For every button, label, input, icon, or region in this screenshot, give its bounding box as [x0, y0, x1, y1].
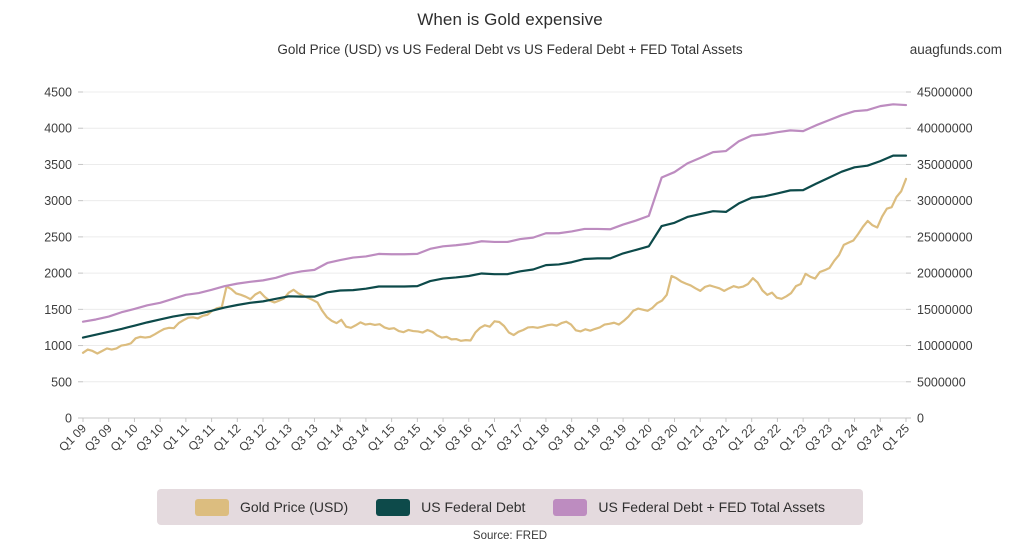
x-axis-tick-label: Q3 17: [493, 421, 526, 454]
x-axis-tick-label: Q1 09: [56, 421, 89, 454]
x-axis-tick-label: Q1 11: [160, 421, 193, 454]
x-axis-tick-label: Q1 19: [570, 421, 603, 454]
chart-container: When is Gold expensive Gold Price (USD) …: [0, 0, 1020, 557]
x-axis-tick-label: Q3 20: [648, 421, 681, 454]
x-axis-tick-label: Q3 21: [699, 421, 732, 454]
right-axis-tick-label: 15000000: [917, 303, 973, 317]
x-axis-tick-label: Q1 17: [468, 421, 501, 454]
x-axis-tick-label: Q3 13: [288, 421, 321, 454]
legend-label: Gold Price (USD): [240, 499, 348, 515]
left-axis-tick-label: 4500: [44, 86, 72, 100]
legend-swatch-icon: [195, 499, 229, 516]
right-axis-tick-label: 20000000: [917, 267, 973, 281]
x-axis-tick-label: Q1 24: [828, 421, 861, 454]
left-axis-tick-label: 3500: [44, 158, 72, 172]
right-axis-tick-label: 25000000: [917, 230, 973, 244]
legend-item[interactable]: US Federal Debt + FED Total Assets: [553, 499, 825, 516]
series-line: [83, 104, 906, 321]
x-axis-tick-label: Q3 15: [390, 421, 423, 454]
x-axis-tick-label: Q1 22: [725, 421, 758, 454]
left-axis-tick-label: 4000: [44, 122, 72, 136]
right-axis-tick-label: 35000000: [917, 158, 973, 172]
x-axis-tick-label: Q3 09: [82, 421, 115, 454]
right-axis-tick-label: 30000000: [917, 194, 973, 208]
series-line: [83, 156, 906, 338]
plot-area: 050010001500200025003000350040004500 050…: [0, 0, 1020, 490]
series-lines: [83, 104, 906, 353]
legend-item[interactable]: US Federal Debt: [376, 499, 525, 516]
x-axis-tick-label: Q1 23: [776, 421, 809, 454]
left-axis-tick-label: 3000: [44, 194, 72, 208]
left-axis-tick-label: 0: [65, 412, 72, 426]
x-axis-tick-label: Q1 15: [365, 421, 398, 454]
x-axis-tick-label: Q1 12: [210, 421, 243, 454]
x-axis-tick-label: Q3 10: [133, 421, 166, 454]
x-axis-tick-label: Q1 20: [622, 421, 655, 454]
x-axis-tick-label: Q3 11: [185, 421, 218, 454]
left-axis-tick-label: 2000: [44, 267, 72, 281]
legend-item[interactable]: Gold Price (USD): [195, 499, 348, 516]
x-axis-tick-label: Q3 14: [339, 421, 372, 454]
gridlines: [83, 92, 906, 418]
x-axis-tick-label: Q1 14: [313, 421, 346, 454]
x-axis-tick-label: Q1 16: [416, 421, 449, 454]
left-axis-tick-label: 500: [51, 375, 72, 389]
series-line: [83, 179, 906, 354]
right-axis-tick-label: 10000000: [917, 339, 973, 353]
left-axis-tick-label: 1000: [44, 339, 72, 353]
x-axis-tick-label: Q1 18: [519, 421, 552, 454]
source-note: Source: FRED: [0, 530, 1020, 542]
x-axis-tick-label: Q3 16: [442, 421, 475, 454]
x-axis-tick-label: Q1 10: [108, 421, 141, 454]
right-axis-tick-label: 0: [917, 412, 924, 426]
legend-swatch-icon: [376, 499, 410, 516]
x-axis-tick-label: Q3 18: [545, 421, 578, 454]
x-axis-ticks: Q1 09Q3 09Q1 10Q3 10Q1 11Q3 11Q1 12Q3 12…: [56, 418, 912, 454]
left-axis-tick-label: 1500: [44, 303, 72, 317]
right-axis-tick-label: 45000000: [917, 86, 973, 100]
x-axis-tick-label: Q1 25: [879, 421, 912, 454]
left-axis-tick-label: 2500: [44, 230, 72, 244]
legend-label: US Federal Debt + FED Total Assets: [598, 499, 825, 515]
right-axis-tick-label: 5000000: [917, 375, 966, 389]
left-axis-ticks: 050010001500200025003000350040004500: [44, 86, 83, 426]
x-axis-tick-label: Q3 23: [802, 421, 835, 454]
x-axis-tick-label: Q3 22: [751, 421, 784, 454]
x-axis-tick-label: Q3 12: [236, 421, 269, 454]
right-axis-tick-label: 40000000: [917, 122, 973, 136]
x-axis-tick-label: Q1 13: [262, 421, 295, 454]
chart-legend: Gold Price (USD)US Federal DebtUS Federa…: [157, 489, 863, 525]
right-axis-ticks: 0500000010000000150000002000000025000000…: [906, 86, 973, 426]
legend-swatch-icon: [553, 499, 587, 516]
legend-label: US Federal Debt: [421, 499, 525, 515]
x-axis-tick-label: Q3 24: [853, 421, 886, 454]
x-axis-tick-label: Q1 21: [673, 421, 706, 454]
x-axis-tick-label: Q3 19: [596, 421, 629, 454]
